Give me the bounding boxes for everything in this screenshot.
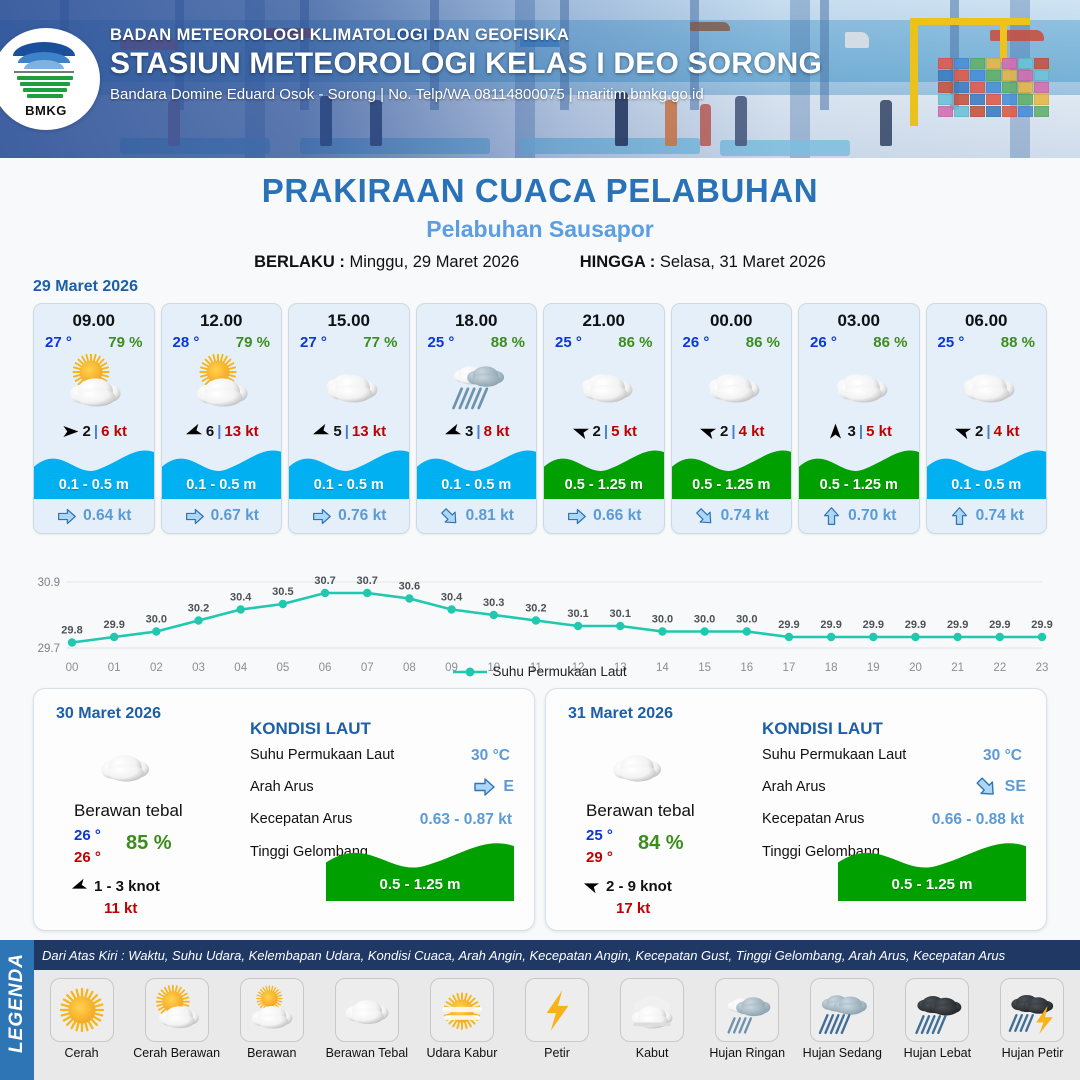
legend-icon-box [525,978,589,1042]
wind-direction-arrow-icon [826,422,845,441]
card-humidity: 86 % [873,334,907,351]
svg-text:30.1: 30.1 [610,608,631,620]
current-direction-arrow-icon [56,506,77,527]
svg-text:30.0: 30.0 [736,614,757,626]
haze-icon [436,984,488,1036]
card-wave: 0.1 - 0.5 m [162,447,282,499]
wind-direction-arrow-icon [568,419,592,443]
card-wave: 0.1 - 0.5 m [289,447,409,499]
card-weather-icon [289,353,409,415]
wind-direction-arrow-icon [309,419,333,443]
day-panel: 30 Maret 2026 Berawan tebal 26 ° 26 ° [33,688,535,931]
wind-direction-arrow-icon [695,419,719,443]
svg-text:30.7: 30.7 [314,575,335,587]
legend-icon-box [430,978,494,1042]
card-wave: 0.1 - 0.5 m [417,447,537,499]
svg-text:30.2: 30.2 [525,603,546,615]
card-temperature: 25 ° [938,334,965,351]
cloudy-icon [829,354,889,414]
legend-item: Berawan [224,970,319,1060]
svg-text:30.4: 30.4 [230,592,252,604]
legend-item: Petir [509,970,604,1060]
hourly-card[interactable]: 03.00 26 ° 86 % [798,303,920,534]
wind-direction-arrow-icon [440,419,464,443]
current-direction-label: Arah Arus [762,779,826,795]
chart-legend-marker-icon [453,666,487,678]
moderate-rain-icon [816,984,868,1036]
card-weather-icon [927,353,1047,415]
card-current-row: 0.66 kt [544,499,664,533]
svg-text:29.9: 29.9 [905,619,926,631]
header-banner: BMKG BADAN METEOROLOGI KLIMATOLOGI DAN G… [0,0,1080,158]
card-weather-icon [162,353,282,415]
legend-icon-box [50,978,114,1042]
card-time: 06.00 [927,304,1047,331]
card-temperature: 27 ° [45,334,72,351]
card-gust: 4 kt [739,423,765,440]
card-time: 12.00 [162,304,282,331]
panel-date: 31 Maret 2026 [568,705,673,723]
wind-direction-arrow-icon [950,419,974,443]
svg-text:30.2: 30.2 [188,603,209,615]
cloud-icon [341,984,393,1036]
cloud-sun-small-icon [246,984,298,1036]
card-wind-row: 2 | 4 kt [672,415,792,447]
valid-from-group: BERLAKU : Minggu, 29 Maret 2026 [254,253,519,272]
card-wind-speed: 2 [720,423,728,440]
card-wave: 0.5 - 1.25 m [672,447,792,499]
wind-direction-arrow-icon [61,422,80,441]
wind-direction-arrow-icon [67,874,90,897]
svg-text:29.9: 29.9 [989,619,1010,631]
legend-item: Cerah [34,970,129,1060]
card-current-row: 0.64 kt [34,499,154,533]
card-temperature: 25 ° [555,334,582,351]
valid-from-label: BERLAKU : [254,253,345,271]
panel-wind-row: 1 - 3 knot [70,877,160,895]
header-text-block: BADAN METEOROLOGI KLIMATOLOGI DAN GEOFIS… [110,26,1010,103]
page-title: PRAKIRAAN CUACA PELABUHAN [0,172,1080,210]
card-temperature: 26 ° [810,334,837,351]
card-wave-label: 0.5 - 1.25 m [544,477,664,493]
sun-cloud-icon [151,984,203,1036]
card-humidity: 79 % [108,334,142,351]
card-gust: 13 kt [352,423,386,440]
card-current-speed: 0.76 kt [338,507,386,525]
sst-label: Suhu Permukaan Laut [250,747,394,763]
current-speed-value: 0.63 - 0.87 kt [420,811,512,829]
card-current-speed: 0.74 kt [976,507,1024,525]
card-weather-icon [417,353,537,415]
legend-icon-box [715,978,779,1042]
legend-side-tab: LEGENDA [0,940,34,1080]
card-wind-row: 2 | 6 kt [34,415,154,447]
current-direction-value: E [503,778,514,796]
legend-note: Dari Atas Kiri : Waktu, Suhu Udara, Kele… [42,948,1005,963]
legend-item: Hujan Lebat [890,970,985,1060]
wind-separator: | [731,423,735,440]
chart-legend-label: Suhu Permukaan Laut [492,664,626,679]
legend-item-label: Petir [544,1046,570,1060]
card-wave-label: 0.5 - 1.25 m [672,477,792,493]
card-current-row: 0.67 kt [162,499,282,533]
card-weather-icon [544,353,664,415]
wind-separator: | [217,423,221,440]
legend-icon-box [335,978,399,1042]
card-temperature: 26 ° [683,334,710,351]
card-time: 18.00 [417,304,537,331]
current-direction-arrow-icon [689,501,719,531]
day-panel: 31 Maret 2026 Berawan tebal 25 ° 29 ° [545,688,1047,931]
card-gust: 6 kt [101,423,127,440]
card-current-row: 0.70 kt [799,499,919,533]
card-wave-label: 0.1 - 0.5 m [927,477,1047,493]
legend-icon-box [145,978,209,1042]
rain-icon [446,354,506,414]
card-gust: 4 kt [994,423,1020,440]
panel-wave: 0.5 - 1.25 m [326,839,514,901]
chart-legend: Suhu Permukaan Laut [0,664,1080,679]
wind-separator: | [859,423,863,440]
panel-temp-max: 29 ° [586,849,613,866]
card-wind-row: 2 | 4 kt [927,415,1047,447]
agency-name: BADAN METEOROLOGI KLIMATOLOGI DAN GEOFIS… [110,26,1010,45]
card-time: 15.00 [289,304,409,331]
card-weather-icon [799,353,919,415]
card-time: 00.00 [672,304,792,331]
panel-condition: Berawan tebal [74,801,183,821]
card-wind-row: 3 | 5 kt [799,415,919,447]
card-weather-icon [672,353,792,415]
valid-until-group: HINGGA : Selasa, 31 Maret 2026 [580,253,826,272]
current-direction-arrow-icon [969,770,1003,804]
wind-separator: | [94,423,98,440]
current-speed-label: Kecepatan Arus [762,811,864,827]
legend-item-label: Cerah [65,1046,99,1060]
card-wave: 0.1 - 0.5 m [34,447,154,499]
panel-wave: 0.5 - 1.25 m [838,839,1026,901]
hourly-card[interactable]: 09.00 27 ° 79 % [33,303,155,534]
hourly-card[interactable]: 15.00 27 ° 77 % [288,303,410,534]
cloudy-icon [956,354,1016,414]
card-wind-row: 6 | 13 kt [162,415,282,447]
panel-temp-min: 25 ° [586,827,613,844]
validity-row: BERLAKU : Minggu, 29 Maret 2026 HINGGA :… [0,253,1080,272]
panel-humidity: 84 % [638,832,684,855]
svg-text:29.7: 29.7 [38,643,60,655]
card-weather-icon [34,353,154,415]
card-gust: 5 kt [866,423,892,440]
sst-value: 30 °C [983,747,1022,765]
card-gust: 13 kt [224,423,258,440]
legend-item: Kabut [605,970,700,1060]
station-contact: Bandara Domine Eduard Osok - Sorong | No… [110,86,1010,103]
card-current-speed: 0.74 kt [721,507,769,525]
legend-icon-box [620,978,684,1042]
card-humidity: 88 % [491,334,525,351]
panel-temp-max: 26 ° [74,849,101,866]
card-current-speed: 0.66 kt [593,507,641,525]
current-direction-arrow-icon [566,506,587,527]
legend-item-label: Hujan Sedang [803,1046,882,1060]
overcast-icon [608,737,666,795]
card-wind-speed: 3 [465,423,473,440]
bmkg-logo-mark [13,40,79,102]
fog-icon [626,984,678,1036]
card-wave-label: 0.1 - 0.5 m [417,477,537,493]
valid-from-value: Minggu, 29 Maret 2026 [349,253,519,271]
card-wind-row: 5 | 13 kt [289,415,409,447]
svg-text:30.0: 30.0 [652,614,673,626]
panel-wave-label: 0.5 - 1.25 m [326,876,514,893]
legend-item: Berawan Tebal [319,970,414,1060]
legend-icon-box [810,978,874,1042]
svg-text:30.0: 30.0 [694,614,715,626]
current-direction-arrow-icon [821,506,842,527]
current-direction-value: SE [1005,778,1026,796]
card-gust: 5 kt [611,423,637,440]
card-wave-label: 0.5 - 1.25 m [799,477,919,493]
partly-cloudy-icon [64,354,124,414]
svg-text:29.9: 29.9 [778,619,799,631]
card-humidity: 77 % [363,334,397,351]
wind-direction-arrow-icon [579,874,602,897]
card-wave-label: 0.1 - 0.5 m [162,477,282,493]
card-wind-speed: 5 [333,423,341,440]
sun-icon [56,984,108,1036]
panel-gust: 11 kt [104,900,137,917]
valid-until-label: HINGGA : [580,253,655,271]
svg-text:29.9: 29.9 [820,619,841,631]
svg-text:30.5: 30.5 [272,586,293,598]
card-wave: 0.5 - 1.25 m [544,447,664,499]
card-wave: 0.5 - 1.25 m [799,447,919,499]
sea-conditions-heading: KONDISI LAUT [250,719,371,739]
svg-text:29.8: 29.8 [61,625,82,637]
current-direction-arrow-icon [434,501,464,531]
card-wind-row: 3 | 8 kt [417,415,537,447]
panel-condition: Berawan tebal [586,801,695,821]
cloudy-icon [574,354,634,414]
legend-item-label: Berawan [247,1046,296,1060]
card-wind-speed: 2 [593,423,601,440]
card-humidity: 86 % [746,334,780,351]
panel-humidity: 85 % [126,832,172,855]
card-current-row: 0.74 kt [672,499,792,533]
svg-text:30.1: 30.1 [567,608,588,620]
card-current-row: 0.81 kt [417,499,537,533]
legend-icon-box [905,978,969,1042]
panel-gust: 17 kt [616,900,650,917]
panel-wind-row: 2 - 9 knot [582,877,672,895]
card-wave-label: 0.1 - 0.5 m [289,477,409,493]
current-direction-arrow-icon [184,506,205,527]
legend-item-label: Hujan Ringan [709,1046,785,1060]
svg-text:29.9: 29.9 [947,619,968,631]
panel-wind-range: 2 - 9 knot [606,878,672,895]
light-rain-icon [721,984,773,1036]
legend-item-label: Berawan Tebal [326,1046,408,1060]
card-current-speed: 0.81 kt [466,507,514,525]
card-humidity: 86 % [618,334,652,351]
panel-weather-icon [96,737,154,800]
legend-item: Udara Kabur [414,970,509,1060]
card-wind-speed: 3 [848,423,856,440]
svg-text:29.9: 29.9 [1031,619,1052,631]
panel-weather-icon [608,737,666,800]
card-current-speed: 0.70 kt [848,507,896,525]
legend-icon-box [1000,978,1064,1042]
sst-value: 30 °C [471,747,510,765]
valid-until-value: Selasa, 31 Maret 2026 [660,253,826,271]
hourly-date: 29 Maret 2026 [33,278,138,296]
legend-item-label: Cerah Berawan [133,1046,220,1060]
card-current-speed: 0.64 kt [83,507,131,525]
current-direction-arrow-icon [472,775,496,799]
legend-item: Hujan Ringan [700,970,795,1060]
legend-strip: LEGENDA Dari Atas Kiri : Waktu, Suhu Uda… [0,940,1080,1080]
current-direction-value-row: SE [974,775,1026,799]
svg-text:30.4: 30.4 [441,592,463,604]
sst-label: Suhu Permukaan Laut [762,747,906,763]
svg-text:30.9: 30.9 [38,577,60,589]
lightning-icon [531,984,583,1036]
cloudy-icon [319,354,379,414]
card-current-row: 0.74 kt [927,499,1047,533]
card-wind-row: 2 | 5 kt [544,415,664,447]
legend-item: Cerah Berawan [129,970,224,1060]
card-current-speed: 0.67 kt [211,507,259,525]
svg-text:30.7: 30.7 [357,575,378,587]
svg-text:30.3: 30.3 [483,597,504,609]
svg-text:29.9: 29.9 [103,619,124,631]
page-subtitle: Pelabuhan Sausapor [0,216,1080,243]
card-temperature: 25 ° [428,334,455,351]
hourly-card-list: 09.00 27 ° 79 % [33,303,1047,534]
wind-separator: | [345,423,349,440]
legend-item-list: Cerah Cerah Berawan [34,970,1080,1080]
card-humidity: 79 % [236,334,270,351]
card-temperature: 28 ° [173,334,200,351]
legend-item: Hujan Sedang [795,970,890,1060]
svg-text:30.6: 30.6 [399,581,420,593]
legend-icon-box [240,978,304,1042]
wind-separator: | [986,423,990,440]
hourly-card[interactable]: 18.00 25 ° 88 % [416,303,538,534]
legend-item-label: Udara Kabur [426,1046,497,1060]
card-wind-speed: 2 [83,423,91,440]
legend-item: Hujan Petir [985,970,1080,1060]
sst-chart: 30.929.729.80029.90130.00230.20330.40430… [24,560,1056,680]
current-direction-value-row: E [472,775,514,799]
card-current-row: 0.76 kt [289,499,409,533]
card-time: 21.00 [544,304,664,331]
card-humidity: 88 % [1001,334,1035,351]
current-direction-arrow-icon [311,506,332,527]
thunderstorm-icon [1006,984,1058,1036]
panel-temp-min: 26 ° [74,827,101,844]
card-wind-speed: 6 [206,423,214,440]
card-wave: 0.1 - 0.5 m [927,447,1047,499]
card-time: 03.00 [799,304,919,331]
card-gust: 8 kt [484,423,510,440]
hourly-card[interactable]: 21.00 25 ° 86 % [543,303,665,534]
bmkg-logo-text: BMKG [25,103,67,118]
current-speed-value: 0.66 - 0.88 kt [932,811,1024,829]
card-wind-speed: 2 [975,423,983,440]
panel-wave-label: 0.5 - 1.25 m [838,876,1026,893]
legend-item-label: Hujan Lebat [904,1046,971,1060]
wind-separator: | [476,423,480,440]
wind-direction-arrow-icon [181,419,205,443]
panel-date: 30 Maret 2026 [56,705,161,723]
svg-text:29.9: 29.9 [863,619,884,631]
card-temperature: 27 ° [300,334,327,351]
overcast-icon [96,737,154,795]
card-wave-label: 0.1 - 0.5 m [34,477,154,493]
legend-item-label: Hujan Petir [1002,1046,1064,1060]
svg-text:30.0: 30.0 [146,614,167,626]
cloudy-icon [701,354,761,414]
legend-item-label: Kabut [636,1046,669,1060]
panel-wind-range: 1 - 3 knot [94,878,160,895]
current-direction-arrow-icon [949,506,970,527]
sea-conditions-heading: KONDISI LAUT [762,719,883,739]
current-speed-label: Kecepatan Arus [250,811,352,827]
legend-side-title: LEGENDA [6,950,28,1056]
wind-separator: | [604,423,608,440]
hourly-card[interactable]: 12.00 28 ° 79 % [161,303,283,534]
partly-cloudy-icon [191,354,251,414]
hourly-card[interactable]: 00.00 26 ° 86 % [671,303,793,534]
hourly-card[interactable]: 06.00 25 ° 88 % [926,303,1048,534]
current-direction-label: Arah Arus [250,779,314,795]
station-name: STASIUN METEOROLOGI KELAS I DEO SORONG [110,47,1010,81]
card-time: 09.00 [34,304,154,331]
heavy-rain-icon [911,984,963,1036]
